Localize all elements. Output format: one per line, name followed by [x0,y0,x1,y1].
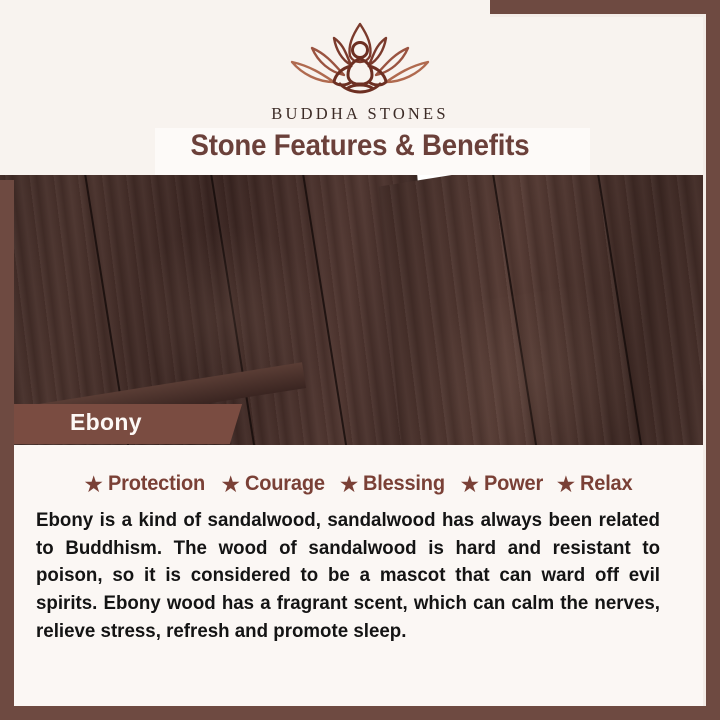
feature-item-blessing: ★Blessing [339,471,452,496]
brand-name: BUDDHA STONES [0,104,720,124]
poster-canvas: BUDDHA STONES Stone Features & Benefits … [0,0,720,720]
product-description: Ebony is a kind of sandalwood, sandalwoo… [36,507,660,645]
header-section: BUDDHA STONES Stone Features & Benefits [0,0,720,185]
star-icon: ★ [459,473,480,496]
frame-inner-line-right [703,14,706,706]
feature-list: ★Protection★Courage★Blessing★Power★Relax [14,471,706,496]
product-name: Ebony [70,409,142,436]
lotus-meditation-figure-icon [272,18,448,102]
frame-inner-line-top [490,14,706,17]
frame-border-bottom [0,706,720,720]
page-title: Stone Features & Benefits [29,129,691,163]
feature-label: Relax [580,471,632,496]
star-icon: ★ [556,473,577,496]
feature-label: Courage [245,471,325,496]
feature-label: Power [484,471,543,496]
feature-label: Protection [108,471,205,496]
brand-logo: BUDDHA STONES [0,18,720,124]
feature-label: Blessing [363,471,445,496]
feature-item-courage: ★Courage [220,471,330,496]
feature-item-protection: ★Protection [83,471,212,496]
star-icon: ★ [83,473,104,496]
star-icon: ★ [339,473,360,496]
star-icon: ★ [220,473,241,496]
feature-item-relax: ★Relax [556,471,637,496]
content-section: ★Protection★Courage★Blessing★Power★Relax… [14,445,706,706]
feature-item-power: ★Power [459,471,547,496]
